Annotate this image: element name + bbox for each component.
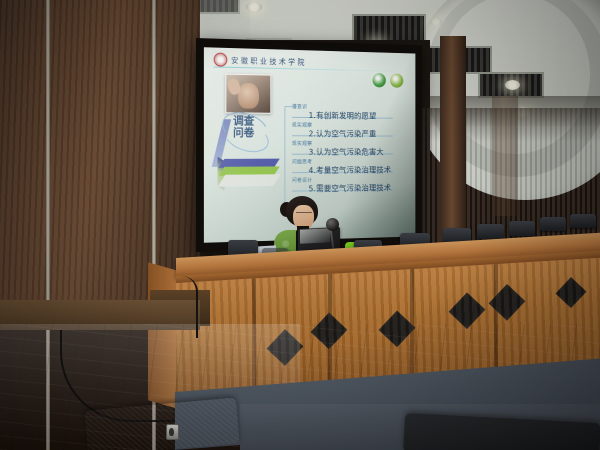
glasses-icon	[296, 212, 312, 217]
slide-row: 现实观察 2.认为空气污染严重	[292, 123, 413, 142]
slide-row: 潜意识 1.有创新发明的愿望	[292, 104, 413, 123]
downlight-icon	[505, 80, 520, 90]
photo-face	[238, 83, 259, 109]
wall-pillar	[492, 96, 518, 216]
slide-photo	[225, 74, 271, 114]
slide-block-layer	[218, 174, 281, 186]
podium-chair	[570, 214, 596, 228]
slide-row: 现实观察 3.认为空气污染危害大	[292, 141, 413, 159]
laptop-screen	[300, 228, 330, 244]
green-leaf-badge-icon	[373, 73, 386, 87]
slide-header-title: 安徽职业技术学院	[231, 54, 307, 67]
slide-row: 问题思考 4.考量空气污染治理技术	[292, 159, 413, 178]
ceiling-grille-panel	[196, 0, 240, 14]
slide-vertical-title: 调查问卷	[233, 115, 254, 138]
slide-row: 问卷设计 5.需要空气污染治理技术	[292, 177, 413, 197]
podium-chair	[540, 217, 566, 231]
lecture-hall-photo: 安徽职业技术学院 调查问卷	[0, 0, 600, 450]
slide-row-text: 1.有创新发明的愿望	[309, 109, 377, 121]
gooseneck-microphone-icon	[326, 218, 339, 231]
school-seal-icon	[214, 53, 228, 67]
slide-row-tag: 潜意识	[292, 103, 307, 110]
podium-diamond	[555, 277, 586, 308]
downlight-icon	[246, 2, 262, 12]
podium-chair	[509, 221, 535, 236]
slide-row-text: 5.需要空气污染治理技术	[309, 182, 392, 195]
power-cable-vertical	[182, 276, 198, 338]
slide-row-text: 2.认为空气污染严重	[309, 128, 377, 140]
podium-diamond	[489, 284, 526, 321]
slide-row-text: 4.考量空气污染治理技术	[309, 164, 392, 176]
green-circle-badge-icon	[390, 73, 403, 87]
podium-chair	[477, 224, 504, 239]
slide-bullet-list: 潜意识 1.有创新发明的愿望 现实观察 2.认为空气污染严重 现实观察 3.认为…	[292, 104, 413, 196]
downlight-icon	[430, 18, 442, 26]
seat-number-plate	[166, 424, 179, 440]
slide-row-text: 3.认为空气污染危害大	[309, 146, 384, 158]
